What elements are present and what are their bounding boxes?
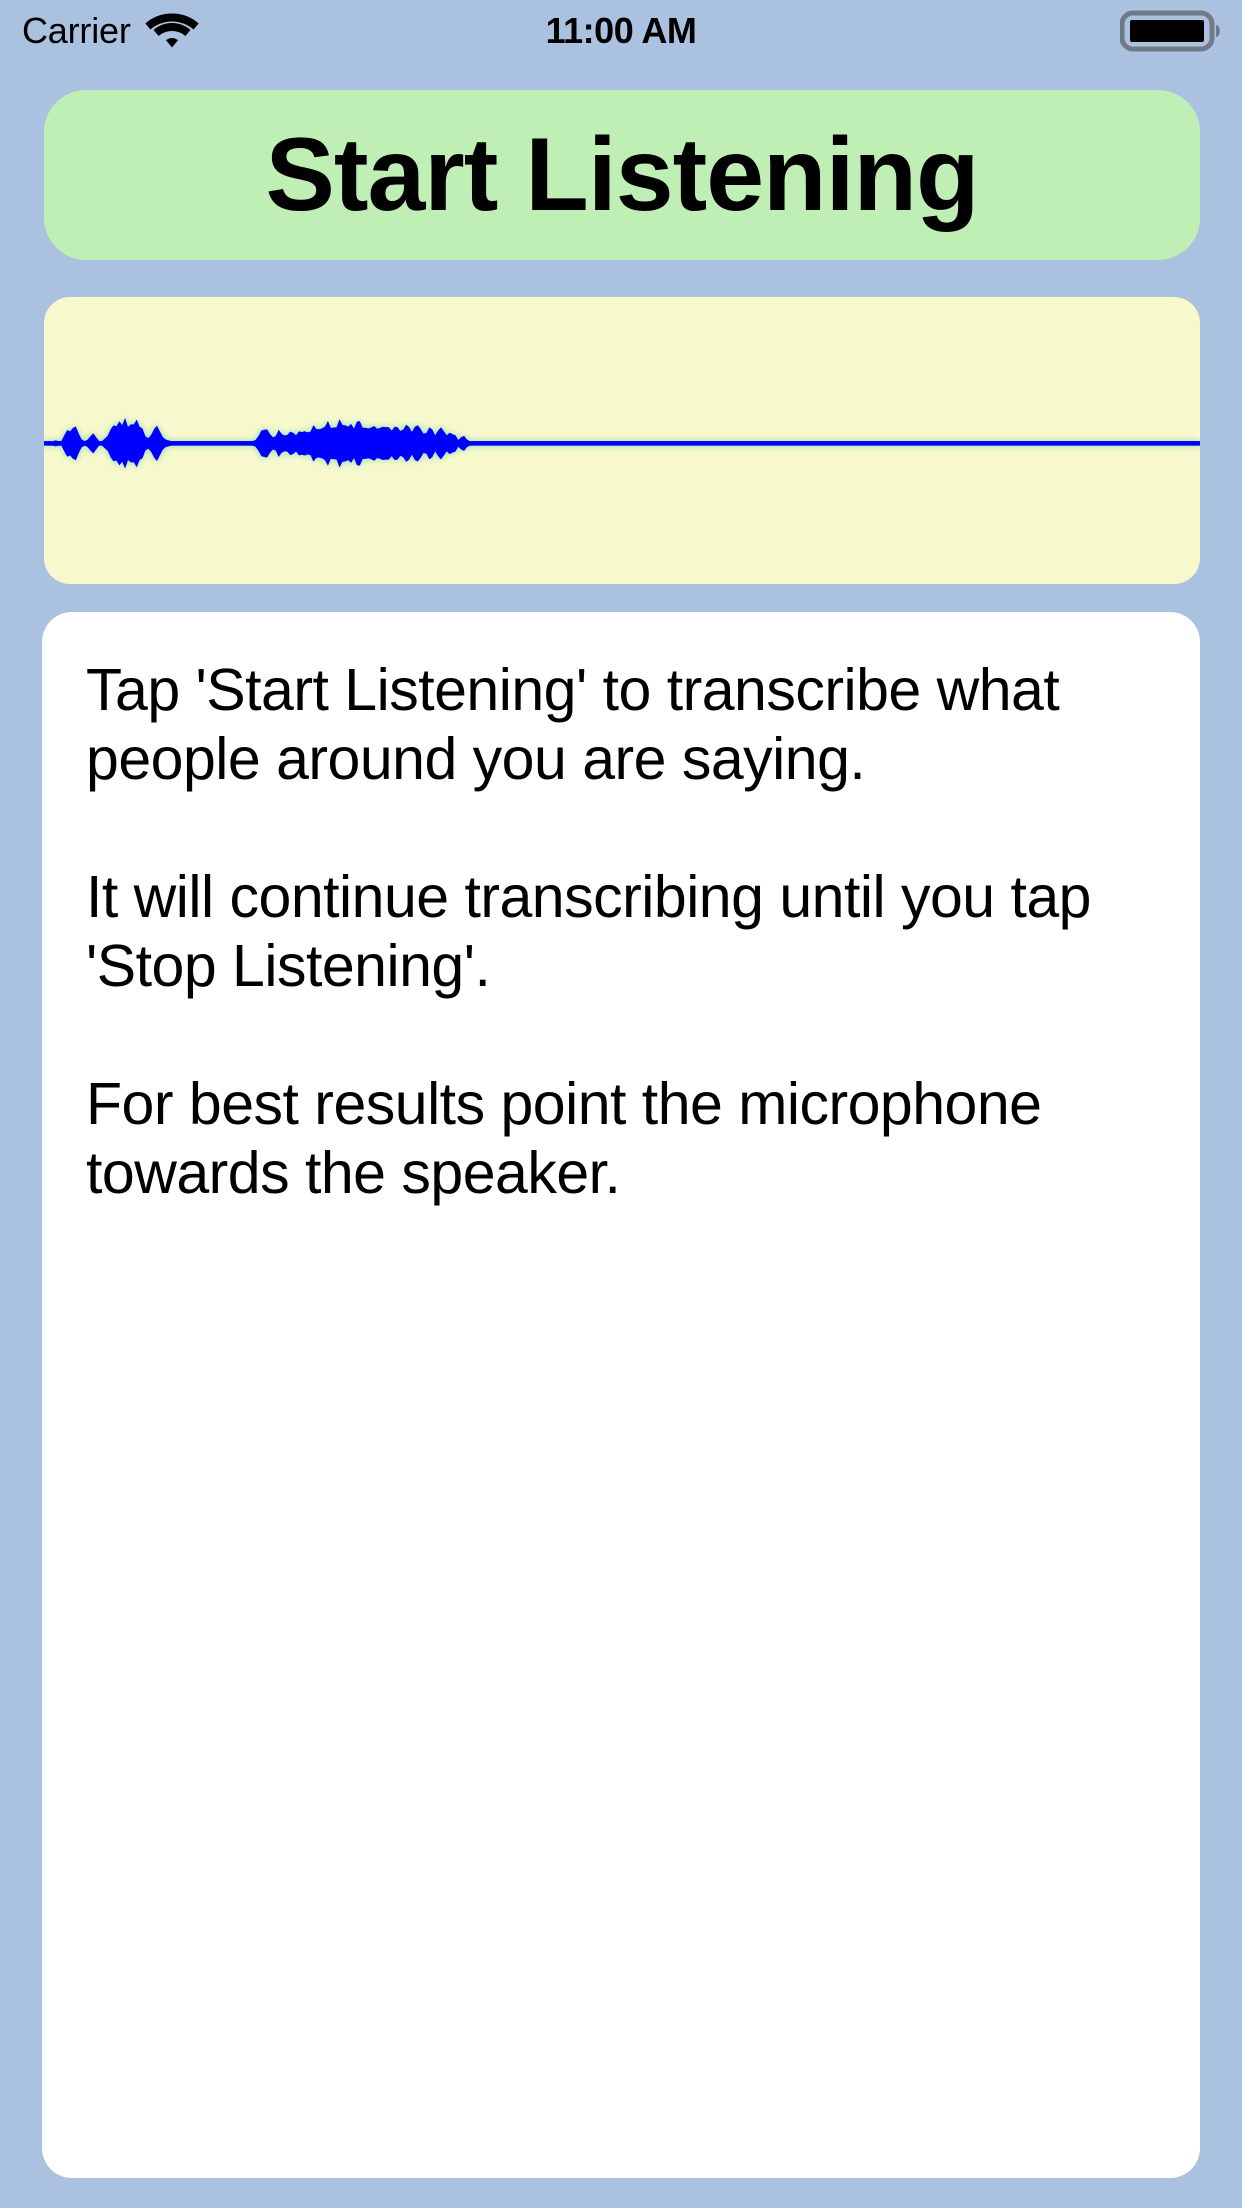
battery-full-icon [1120,9,1224,53]
status-bar: Carrier 11:00 AM [0,0,1242,62]
start-listening-button[interactable]: Start Listening [44,90,1200,260]
status-bar-left: Carrier [22,11,199,51]
transcript-card[interactable]: Tap 'Start Listening' to transcribe what… [42,612,1200,2178]
transcript-placeholder-text: Tap 'Start Listening' to transcribe what… [86,656,1160,1208]
carrier-label: Carrier [22,13,131,49]
audio-waveform-graphic [44,297,1200,584]
audio-waveform-panel [44,297,1200,584]
start-listening-button-label: Start Listening [265,123,978,227]
clock-label: 11:00 AM [546,13,697,49]
wifi-icon [145,11,199,51]
status-bar-right [1120,0,1224,62]
